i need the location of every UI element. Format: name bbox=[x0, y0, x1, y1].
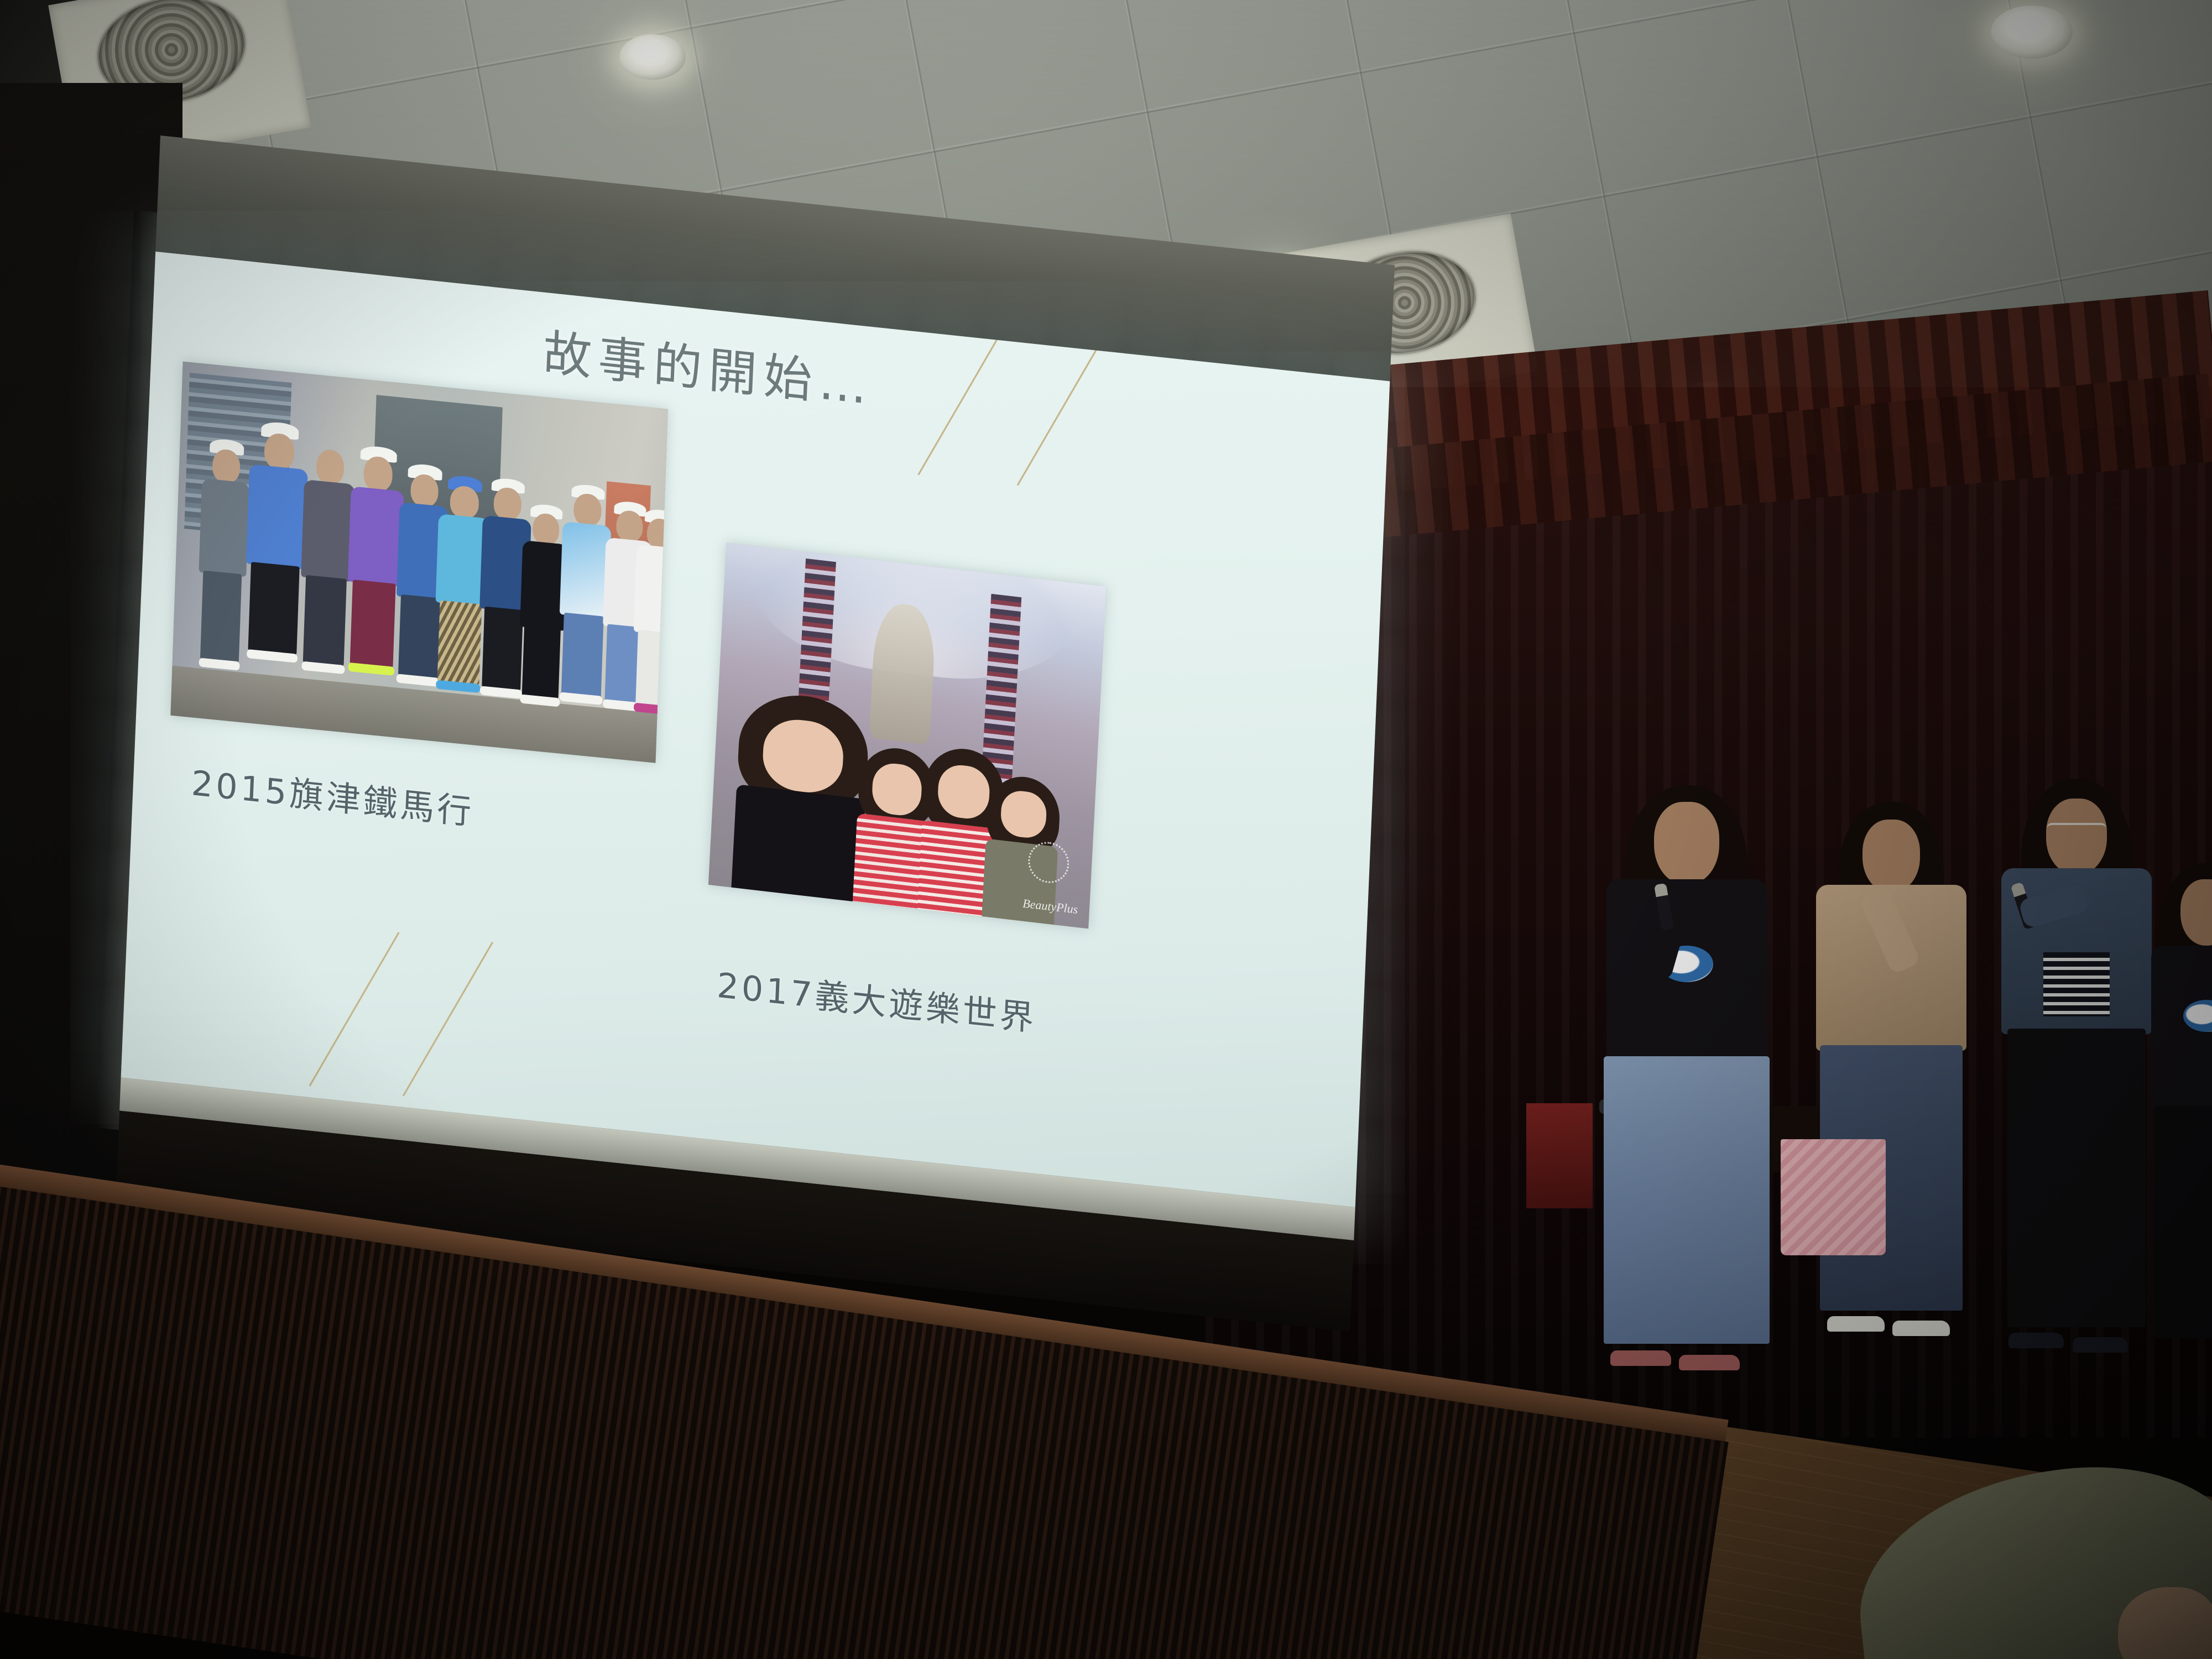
presenter-shoe bbox=[2008, 1333, 2064, 1348]
presenter-second bbox=[1786, 796, 1996, 1394]
presenter-shoe bbox=[2073, 1337, 2128, 1353]
presenter-shoe bbox=[1679, 1355, 1740, 1370]
screenshot-root: 故事的開始… bbox=[0, 0, 2212, 1659]
decorative-line bbox=[309, 932, 399, 1087]
presenter-shoe bbox=[1610, 1350, 1671, 1366]
presenter-face bbox=[1863, 820, 1920, 893]
presenter-main bbox=[1571, 780, 1803, 1443]
presenter-fourth bbox=[2146, 863, 2212, 1360]
glasses-icon bbox=[2047, 823, 2106, 835]
presenter-trousers bbox=[2154, 1106, 2212, 1338]
floral-tote-bag bbox=[1781, 1139, 1886, 1255]
decorative-line bbox=[917, 335, 1000, 475]
projection-screen: 故事的開始… bbox=[116, 135, 1395, 1315]
decorative-line bbox=[1017, 345, 1100, 486]
presenter-trousers bbox=[2007, 1029, 2146, 1327]
photo-person bbox=[731, 689, 870, 902]
presenter-face bbox=[2046, 799, 2107, 875]
ceiling-downlight bbox=[619, 34, 686, 80]
ceiling-downlight bbox=[1991, 6, 2073, 59]
presenter-striped-top bbox=[2043, 952, 2110, 1016]
slide-photo-selfie-eda: BeautyPlus bbox=[708, 542, 1107, 928]
decorative-line bbox=[403, 942, 493, 1097]
presenter-jeans bbox=[1604, 1056, 1770, 1344]
presenter-face bbox=[1654, 802, 1719, 885]
slide-photo-group-qijin bbox=[170, 362, 667, 763]
presenter-shoe bbox=[1827, 1316, 1885, 1332]
slide-caption-right: 2017義大遊樂世界 bbox=[716, 957, 1038, 1041]
presenter-shoe bbox=[1892, 1321, 1950, 1336]
slide-caption-left: 2015旗津鐵馬行 bbox=[190, 755, 475, 834]
projected-slide: 故事的開始… bbox=[121, 252, 1390, 1207]
